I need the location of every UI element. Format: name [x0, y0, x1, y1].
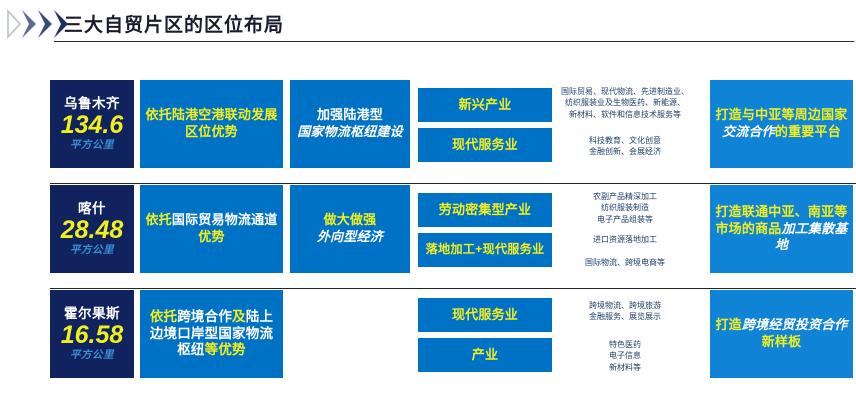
- industry-card[interactable]: 现代服务业: [418, 298, 552, 332]
- advantage-text: 区位优势: [185, 124, 238, 139]
- area-unit: 平方公里: [70, 245, 114, 256]
- goal-text: 市场的商品: [715, 221, 781, 236]
- industry-note: 跨境物流、跨境旅游 金融服务、展览展示: [548, 294, 702, 328]
- area-value: 134.6: [61, 112, 124, 138]
- advantage-card[interactable]: 依托陆港空港联动发展 区位优势: [140, 80, 283, 168]
- advantage-text: 等优势: [205, 342, 246, 357]
- action-text: 外向型经济: [317, 229, 383, 244]
- industry-card[interactable]: 新兴产业: [418, 88, 552, 122]
- goal-card[interactable]: 打造联通中亚、南亚等 市场的商品加工集散基地: [710, 185, 853, 273]
- goal-text: 交流合作: [722, 124, 775, 139]
- industry-label: 新兴产业: [454, 97, 517, 114]
- layout-table: 乌鲁木齐 134.6 平方公里 依托陆港空港联动发展 区位优势 加强陆港型 国家…: [0, 52, 856, 415]
- advantage-text: 国际贸易物流通道: [172, 212, 278, 227]
- advantage-text: 优势: [198, 229, 224, 244]
- goal-card[interactable]: 打造与中亚等周边国家 交流合作的重要平台: [710, 80, 853, 168]
- advantage-text: 依托: [145, 212, 171, 227]
- action-card[interactable]: 做大做强 外向型经济: [290, 185, 410, 273]
- note-text: 国际贸易、现代物流、先进制造业、 纺织服装业及生物医药、新能源、 新材料、软件和…: [548, 86, 702, 119]
- advantage-card[interactable]: 依托国际贸易物流通道 优势: [140, 185, 283, 273]
- goal-text: 跨境经贸投资合作: [742, 317, 848, 332]
- industry-card[interactable]: 现代服务业: [418, 128, 552, 162]
- action-text: 国家物流枢纽建设: [297, 124, 403, 139]
- advantage-text: 跨境合作: [177, 309, 232, 324]
- industry-label: 劳动密集型产业: [434, 202, 536, 219]
- title-underline: [54, 41, 854, 42]
- industry-card[interactable]: 劳动密集型产业: [418, 193, 552, 227]
- note-text: 跨境物流、跨境旅游 金融服务、展览展示: [548, 300, 702, 322]
- area-value: 28.48: [61, 217, 124, 243]
- note-text: 进口资源落地加工 国际物流、跨境电商等: [548, 234, 702, 267]
- area-unit: 平方公里: [70, 140, 114, 151]
- goal-text: 打造联通中亚、南亚等: [715, 204, 847, 219]
- area-name: 乌鲁木齐: [64, 97, 120, 111]
- goal-text: 打造与中亚等周边国家: [715, 107, 847, 122]
- goal-text: 新样板: [762, 334, 802, 349]
- industry-label: 产业: [467, 347, 503, 364]
- note-text: 特色医药 电子信息 新材料等: [548, 339, 702, 372]
- industry-note: 国际贸易、现代物流、先进制造业、 纺织服装业及生物医药、新能源、 新材料、软件和…: [548, 82, 702, 124]
- advantage-card[interactable]: 依托跨境合作及陆上边境口岸型国家物流枢纽等优势: [140, 290, 283, 378]
- goal-text: 的重要平台: [775, 124, 841, 139]
- industry-note: 特色医药 电子信息 新材料等: [548, 336, 702, 376]
- industry-label: 落地加工+现代服务业: [421, 242, 550, 258]
- area-unit: 平方公里: [70, 350, 114, 361]
- goal-text: 加工集散基地: [775, 221, 848, 253]
- industry-note: 科技教育、文化创意 金融创新、会展经济: [548, 128, 702, 164]
- action-card[interactable]: 加强陆港型 国家物流枢纽建设: [290, 80, 410, 168]
- advantage-text: 及: [232, 309, 246, 324]
- advantage-text: 依托: [150, 309, 177, 324]
- page-header: 三大自贸片区的区位布局: [0, 0, 856, 52]
- industry-card[interactable]: 产业: [418, 338, 552, 372]
- advantage-text: 依托陆港空港联动发展: [145, 107, 277, 122]
- page-title: 三大自贸片区的区位布局: [64, 10, 284, 37]
- goal-card[interactable]: 打造跨境经贸投资合作 新样板: [710, 290, 853, 378]
- area-value: 16.58: [61, 322, 124, 348]
- table-row: 乌鲁木齐 134.6 平方公里 依托陆港空港联动发展 区位优势 加强陆港型 国家…: [0, 80, 856, 185]
- industry-label: 现代服务业: [447, 137, 523, 154]
- industry-label: 现代服务业: [447, 307, 523, 324]
- note-text: 农副产品精深加工 纺织服装制造 电子产品组装等: [548, 191, 702, 224]
- industry-note: 农副产品精深加工 纺织服装制造 电子产品组装等: [548, 187, 702, 229]
- action-text: 加强陆港型: [317, 107, 383, 122]
- industry-card[interactable]: 落地加工+现代服务业: [418, 233, 552, 267]
- goal-text: 打造: [715, 317, 741, 332]
- area-card-kashgar[interactable]: 喀什 28.48 平方公里: [50, 185, 134, 273]
- area-name: 霍尔果斯: [64, 307, 120, 321]
- table-row: 霍尔果斯 16.58 平方公里 依托跨境合作及陆上边境口岸型国家物流枢纽等优势 …: [0, 290, 856, 395]
- area-card-urumqi[interactable]: 乌鲁木齐 134.6 平方公里: [50, 80, 134, 168]
- industry-note: 进口资源落地加工 国际物流、跨境电商等: [548, 231, 702, 271]
- action-text: 做大做强: [324, 212, 377, 227]
- area-name: 喀什: [78, 202, 106, 216]
- area-card-khorgas[interactable]: 霍尔果斯 16.58 平方公里: [50, 290, 134, 378]
- note-text: 科技教育、文化创意 金融创新、会展经济: [548, 135, 702, 157]
- table-row: 喀什 28.48 平方公里 依托国际贸易物流通道 优势 做大做强 外向型经济 劳…: [0, 185, 856, 290]
